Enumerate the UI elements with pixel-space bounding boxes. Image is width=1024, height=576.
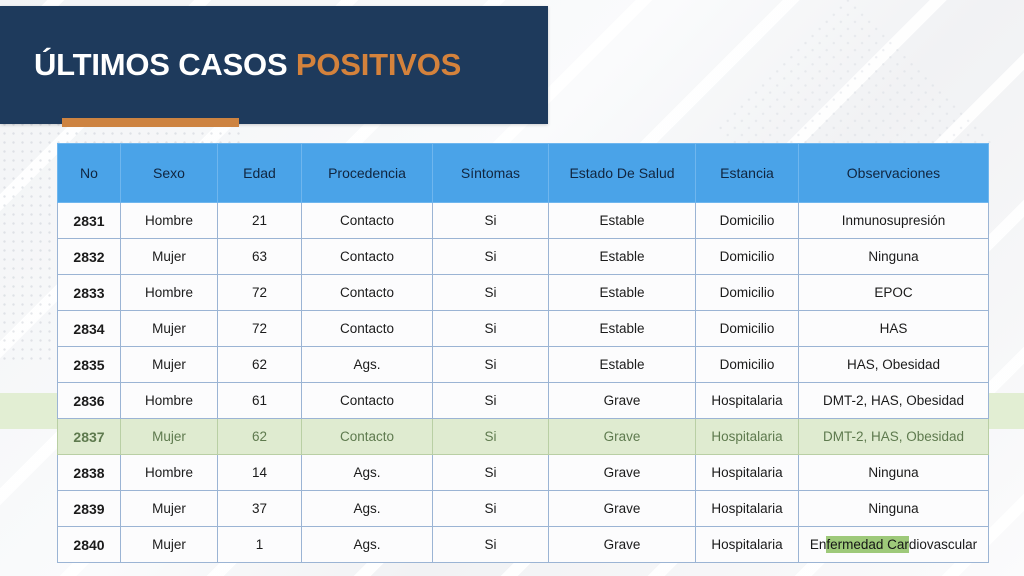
cell-estancia: Domicilio bbox=[696, 203, 799, 239]
cell-edad: 37 bbox=[218, 491, 302, 527]
cell-sexo: Hombre bbox=[121, 203, 218, 239]
cell-observaciones: Ninguna bbox=[799, 455, 989, 491]
table-row[interactable]: 2840Mujer1Ags.SiGraveHospitalariaEnferme… bbox=[58, 527, 989, 563]
cell-edad: 62 bbox=[218, 419, 302, 455]
cell-sintomas: Si bbox=[433, 419, 549, 455]
cell-sexo: Mujer bbox=[121, 491, 218, 527]
cell-estado-salud: Estable bbox=[549, 275, 696, 311]
table-row[interactable]: 2832Mujer63ContactoSiEstableDomicilioNin… bbox=[58, 239, 989, 275]
cell-no: 2835 bbox=[58, 347, 121, 383]
cell-estancia: Domicilio bbox=[696, 239, 799, 275]
cell-no: 2840 bbox=[58, 527, 121, 563]
cell-sexo: Hombre bbox=[121, 275, 218, 311]
cell-procedencia: Ags. bbox=[302, 455, 433, 491]
cell-sexo: Mujer bbox=[121, 419, 218, 455]
cell-estado-salud: Grave bbox=[549, 419, 696, 455]
cell-sintomas: Si bbox=[433, 203, 549, 239]
cell-procedencia: Ags. bbox=[302, 347, 433, 383]
cell-estancia: Hospitalaria bbox=[696, 419, 799, 455]
cell-edad: 62 bbox=[218, 347, 302, 383]
cell-observaciones: EPOC bbox=[799, 275, 989, 311]
observaciones-text-post: diovascular bbox=[909, 537, 977, 552]
cell-sintomas: Si bbox=[433, 383, 549, 419]
observaciones-text-selected: fermedad Car bbox=[826, 536, 909, 553]
cell-sintomas: Si bbox=[433, 311, 549, 347]
cell-procedencia: Contacto bbox=[302, 239, 433, 275]
table-header: No Sexo Edad Procedencia Síntomas Estado… bbox=[58, 144, 989, 203]
cases-table-container: No Sexo Edad Procedencia Síntomas Estado… bbox=[57, 143, 964, 563]
cell-observaciones: Ninguna bbox=[799, 491, 989, 527]
table-row[interactable]: 2838Hombre14Ags.SiGraveHospitalariaNingu… bbox=[58, 455, 989, 491]
title-banner: ÚLTIMOS CASOS POSITIVOS bbox=[0, 6, 548, 124]
column-header-estado-salud[interactable]: Estado De Salud bbox=[549, 144, 696, 203]
cell-edad: 72 bbox=[218, 275, 302, 311]
cell-estancia: Hospitalaria bbox=[696, 527, 799, 563]
column-header-estancia[interactable]: Estancia bbox=[696, 144, 799, 203]
cell-sexo: Mujer bbox=[121, 347, 218, 383]
cell-estado-salud: Grave bbox=[549, 491, 696, 527]
cell-edad: 21 bbox=[218, 203, 302, 239]
cell-sexo: Hombre bbox=[121, 455, 218, 491]
cell-procedencia: Ags. bbox=[302, 527, 433, 563]
cell-sintomas: Si bbox=[433, 491, 549, 527]
cell-estado-salud: Estable bbox=[549, 239, 696, 275]
cell-observaciones: HAS, Obesidad bbox=[799, 347, 989, 383]
cell-procedencia: Ags. bbox=[302, 491, 433, 527]
cell-no: 2834 bbox=[58, 311, 121, 347]
cell-no: 2833 bbox=[58, 275, 121, 311]
column-header-sintomas[interactable]: Síntomas bbox=[433, 144, 549, 203]
cell-no: 2838 bbox=[58, 455, 121, 491]
cell-observaciones: Enfermedad Cardiovascular bbox=[799, 527, 989, 563]
cell-sintomas: Si bbox=[433, 347, 549, 383]
table-row[interactable]: 2834Mujer72ContactoSiEstableDomicilioHAS bbox=[58, 311, 989, 347]
cell-estancia: Domicilio bbox=[696, 311, 799, 347]
page-title: ÚLTIMOS CASOS POSITIVOS bbox=[34, 47, 461, 83]
cell-no: 2831 bbox=[58, 203, 121, 239]
cell-edad: 1 bbox=[218, 527, 302, 563]
table-row[interactable]: 2839Mujer37Ags.SiGraveHospitalariaNingun… bbox=[58, 491, 989, 527]
cell-sexo: Mujer bbox=[121, 311, 218, 347]
column-header-no[interactable]: No bbox=[58, 144, 121, 203]
cell-sexo: Mujer bbox=[121, 239, 218, 275]
table-row[interactable]: 2833Hombre72ContactoSiEstableDomicilioEP… bbox=[58, 275, 989, 311]
cell-edad: 63 bbox=[218, 239, 302, 275]
cell-estancia: Hospitalaria bbox=[696, 491, 799, 527]
cell-observaciones: Inmunosupresión bbox=[799, 203, 989, 239]
title-underline-bar bbox=[62, 118, 239, 127]
column-header-edad[interactable]: Edad bbox=[218, 144, 302, 203]
cell-estado-salud: Grave bbox=[549, 383, 696, 419]
cell-observaciones: HAS bbox=[799, 311, 989, 347]
observaciones-text-pre: En bbox=[810, 537, 827, 552]
column-header-sexo[interactable]: Sexo bbox=[121, 144, 218, 203]
table-row[interactable]: 2837Mujer62ContactoSiGraveHospitalariaDM… bbox=[58, 419, 989, 455]
cell-procedencia: Contacto bbox=[302, 419, 433, 455]
cell-sexo: Mujer bbox=[121, 527, 218, 563]
cell-procedencia: Contacto bbox=[302, 383, 433, 419]
cell-observaciones: Ninguna bbox=[799, 239, 989, 275]
cell-observaciones: DMT-2, HAS, Obesidad bbox=[799, 419, 989, 455]
cell-procedencia: Contacto bbox=[302, 311, 433, 347]
cell-edad: 61 bbox=[218, 383, 302, 419]
table-row[interactable]: 2836Hombre61ContactoSiGraveHospitalariaD… bbox=[58, 383, 989, 419]
column-header-observaciones[interactable]: Observaciones bbox=[799, 144, 989, 203]
table-row[interactable]: 2835Mujer62Ags.SiEstableDomicilioHAS, Ob… bbox=[58, 347, 989, 383]
cell-no: 2839 bbox=[58, 491, 121, 527]
cell-estado-salud: Grave bbox=[549, 455, 696, 491]
cell-estancia: Hospitalaria bbox=[696, 455, 799, 491]
table-header-row: No Sexo Edad Procedencia Síntomas Estado… bbox=[58, 144, 989, 203]
cell-estado-salud: Estable bbox=[549, 311, 696, 347]
cell-sintomas: Si bbox=[433, 275, 549, 311]
cell-observaciones: DMT-2, HAS, Obesidad bbox=[799, 383, 989, 419]
table-row[interactable]: 2831Hombre21ContactoSiEstableDomicilioIn… bbox=[58, 203, 989, 239]
cell-no: 2832 bbox=[58, 239, 121, 275]
cell-estado-salud: Estable bbox=[549, 203, 696, 239]
cases-table: No Sexo Edad Procedencia Síntomas Estado… bbox=[57, 143, 989, 563]
page-title-main: ÚLTIMOS CASOS bbox=[34, 47, 296, 82]
cell-procedencia: Contacto bbox=[302, 275, 433, 311]
cell-procedencia: Contacto bbox=[302, 203, 433, 239]
cell-estado-salud: Estable bbox=[549, 347, 696, 383]
page-title-accent: POSITIVOS bbox=[296, 47, 461, 82]
slide-canvas: ÚLTIMOS CASOS POSITIVOS No Sexo Edad Pro… bbox=[0, 0, 1024, 576]
cell-estado-salud: Grave bbox=[549, 527, 696, 563]
cell-estancia: Hospitalaria bbox=[696, 383, 799, 419]
cell-edad: 72 bbox=[218, 311, 302, 347]
cell-sintomas: Si bbox=[433, 239, 549, 275]
cell-estancia: Domicilio bbox=[696, 275, 799, 311]
cell-sintomas: Si bbox=[433, 455, 549, 491]
cell-no: 2837 bbox=[58, 419, 121, 455]
column-header-procedencia[interactable]: Procedencia bbox=[302, 144, 433, 203]
cell-no: 2836 bbox=[58, 383, 121, 419]
table-body: 2831Hombre21ContactoSiEstableDomicilioIn… bbox=[58, 203, 989, 563]
cell-edad: 14 bbox=[218, 455, 302, 491]
cell-sintomas: Si bbox=[433, 527, 549, 563]
cell-sexo: Hombre bbox=[121, 383, 218, 419]
cell-estancia: Domicilio bbox=[696, 347, 799, 383]
